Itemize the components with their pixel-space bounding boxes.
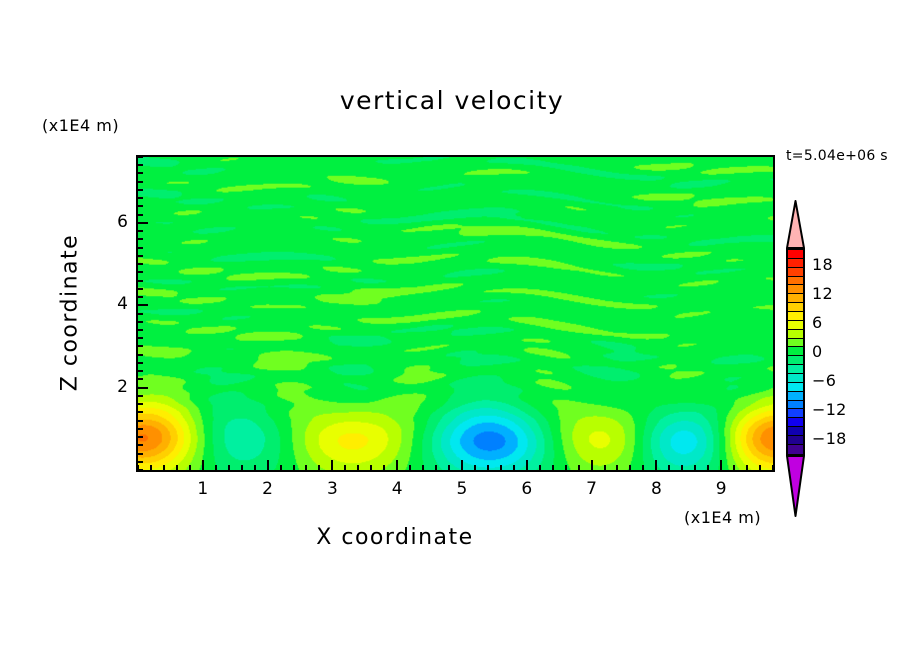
- x-tick-minor: [344, 465, 346, 470]
- x-tick-major: [267, 460, 269, 470]
- x-tick-minor: [733, 465, 735, 470]
- colorbar-band: [788, 392, 803, 401]
- y-tick-major: [138, 387, 148, 389]
- colorbar-band: [788, 347, 803, 356]
- x-tick-label: 7: [572, 479, 612, 499]
- x-tick-minor: [254, 465, 256, 470]
- x-tick-minor: [215, 465, 217, 470]
- x-tick-minor: [552, 465, 554, 470]
- x-tick-minor: [241, 465, 243, 470]
- colorbar-band: [788, 418, 803, 427]
- colorbar-tick-label: 0: [812, 342, 822, 361]
- x-tick-minor: [293, 465, 295, 470]
- colorbar-band: [788, 374, 803, 383]
- y-tick-minor: [138, 337, 143, 339]
- x-tick-major: [396, 460, 398, 470]
- x-tick-label: 5: [442, 479, 482, 499]
- y-tick-major: [138, 222, 148, 224]
- colorbar-band: [788, 339, 803, 348]
- y-axis-title: Z coordinate: [58, 213, 83, 413]
- contour-field: [138, 157, 773, 470]
- y-tick-minor: [138, 280, 143, 282]
- y-tick-minor: [138, 197, 143, 199]
- colorbar-tick-label: 6: [812, 313, 822, 332]
- x-tick-minor: [383, 465, 385, 470]
- colorbar-tick-label: 12: [812, 284, 833, 303]
- x-tick-major: [526, 460, 528, 470]
- colorbar-tick-label: −12: [812, 400, 847, 419]
- y-tick-minor: [138, 214, 143, 216]
- colorbar-tick-label: −6: [812, 371, 836, 390]
- x-tick-label: 8: [636, 479, 676, 499]
- x-tick-major: [720, 460, 722, 470]
- y-tick-minor: [138, 271, 143, 273]
- x-tick-minor: [176, 465, 178, 470]
- colorbar-band: [788, 436, 803, 445]
- colorbar-band: [788, 303, 803, 312]
- contour-plot-area: [136, 155, 775, 472]
- y-tick-minor: [138, 288, 143, 290]
- y-tick-label: 4: [98, 294, 128, 314]
- colorbar-band: [788, 294, 803, 303]
- colorbar-under-cap: [786, 455, 805, 517]
- y-tick-minor: [138, 205, 143, 207]
- y-tick-minor: [138, 172, 143, 174]
- time-annotation: t=5.04e+06 s: [786, 148, 888, 164]
- y-tick-minor: [138, 255, 143, 257]
- x-tick-major: [202, 460, 204, 470]
- colorbar-band: [788, 321, 803, 330]
- colorbar-band: [788, 409, 803, 418]
- y-tick-minor: [138, 395, 143, 397]
- x-tick-label: 1: [183, 479, 223, 499]
- colorbar-band: [788, 427, 803, 436]
- y-tick-minor: [138, 329, 143, 331]
- y-tick-minor: [138, 420, 143, 422]
- x-tick-minor: [565, 465, 567, 470]
- x-tick-minor: [435, 465, 437, 470]
- chart-title: vertical velocity: [0, 86, 904, 115]
- y-tick-minor: [138, 247, 143, 249]
- y-tick-minor: [138, 156, 143, 158]
- y-tick-label: 2: [98, 377, 128, 397]
- y-tick-minor: [138, 378, 143, 380]
- x-tick-major: [655, 460, 657, 470]
- colorbar: [786, 248, 805, 456]
- x-axis-unit-label: (x1E4 m): [684, 508, 761, 527]
- x-tick-minor: [280, 465, 282, 470]
- x-tick-label: 2: [248, 479, 288, 499]
- colorbar-band: [788, 259, 803, 268]
- colorbar-band: [788, 383, 803, 392]
- y-tick-minor: [138, 436, 143, 438]
- x-tick-minor: [357, 465, 359, 470]
- x-tick-major: [461, 460, 463, 470]
- x-tick-minor: [759, 465, 761, 470]
- y-tick-minor: [138, 189, 143, 191]
- figure-root: vertical velocity (x1E4 m) t=5.04e+06 s …: [0, 0, 904, 654]
- y-tick-minor: [138, 362, 143, 364]
- x-tick-minor: [578, 465, 580, 470]
- y-tick-minor: [138, 313, 143, 315]
- x-tick-minor: [500, 465, 502, 470]
- y-tick-minor: [138, 453, 143, 455]
- x-tick-label: 4: [377, 479, 417, 499]
- y-tick-minor: [138, 411, 143, 413]
- y-tick-label: 6: [98, 212, 128, 232]
- x-tick-major: [591, 460, 593, 470]
- y-axis-unit-label: (x1E4 m): [42, 116, 119, 135]
- colorbar-band: [788, 330, 803, 339]
- x-tick-minor: [539, 465, 541, 470]
- y-tick-minor: [138, 321, 143, 323]
- y-tick-minor: [138, 296, 143, 298]
- x-tick-minor: [487, 465, 489, 470]
- colorbar-over-cap: [786, 200, 805, 249]
- x-tick-minor: [305, 465, 307, 470]
- x-tick-minor: [772, 465, 774, 470]
- y-tick-minor: [138, 469, 143, 471]
- x-tick-minor: [422, 465, 424, 470]
- x-tick-major: [331, 460, 333, 470]
- x-tick-minor: [228, 465, 230, 470]
- y-tick-minor: [138, 403, 143, 405]
- x-tick-minor: [150, 465, 152, 470]
- x-axis-title: X coordinate: [0, 525, 790, 550]
- colorbar-tick-label: −18: [812, 429, 847, 448]
- x-tick-minor: [616, 465, 618, 470]
- x-tick-minor: [474, 465, 476, 470]
- y-tick-minor: [138, 370, 143, 372]
- x-tick-minor: [681, 465, 683, 470]
- colorbar-tick-label: 18: [812, 255, 833, 274]
- x-tick-minor: [409, 465, 411, 470]
- x-tick-label: 3: [312, 479, 352, 499]
- colorbar-band: [788, 285, 803, 294]
- y-tick-minor: [138, 230, 143, 232]
- colorbar-band: [788, 401, 803, 410]
- colorbar-band: [788, 445, 803, 454]
- y-tick-minor: [138, 428, 143, 430]
- y-tick-minor: [138, 238, 143, 240]
- y-tick-minor: [138, 181, 143, 183]
- colorbar-band: [788, 312, 803, 321]
- y-tick-minor: [138, 263, 143, 265]
- y-tick-minor: [138, 164, 143, 166]
- y-tick-minor: [138, 345, 143, 347]
- x-tick-label: 9: [701, 479, 741, 499]
- colorbar-band: [788, 356, 803, 365]
- x-tick-minor: [629, 465, 631, 470]
- x-tick-minor: [668, 465, 670, 470]
- y-tick-minor: [138, 444, 143, 446]
- x-tick-minor: [707, 465, 709, 470]
- y-tick-major: [138, 304, 148, 306]
- colorbar-band: [788, 268, 803, 277]
- x-tick-minor: [746, 465, 748, 470]
- colorbar-band: [788, 365, 803, 374]
- y-tick-minor: [138, 354, 143, 356]
- x-tick-minor: [513, 465, 515, 470]
- y-tick-minor: [138, 461, 143, 463]
- colorbar-band: [788, 250, 803, 259]
- x-tick-minor: [370, 465, 372, 470]
- x-tick-minor: [642, 465, 644, 470]
- x-tick-minor: [189, 465, 191, 470]
- x-tick-minor: [448, 465, 450, 470]
- x-tick-minor: [604, 465, 606, 470]
- x-tick-label: 6: [507, 479, 547, 499]
- x-tick-minor: [318, 465, 320, 470]
- colorbar-band: [788, 277, 803, 286]
- x-tick-minor: [163, 465, 165, 470]
- x-tick-minor: [694, 465, 696, 470]
